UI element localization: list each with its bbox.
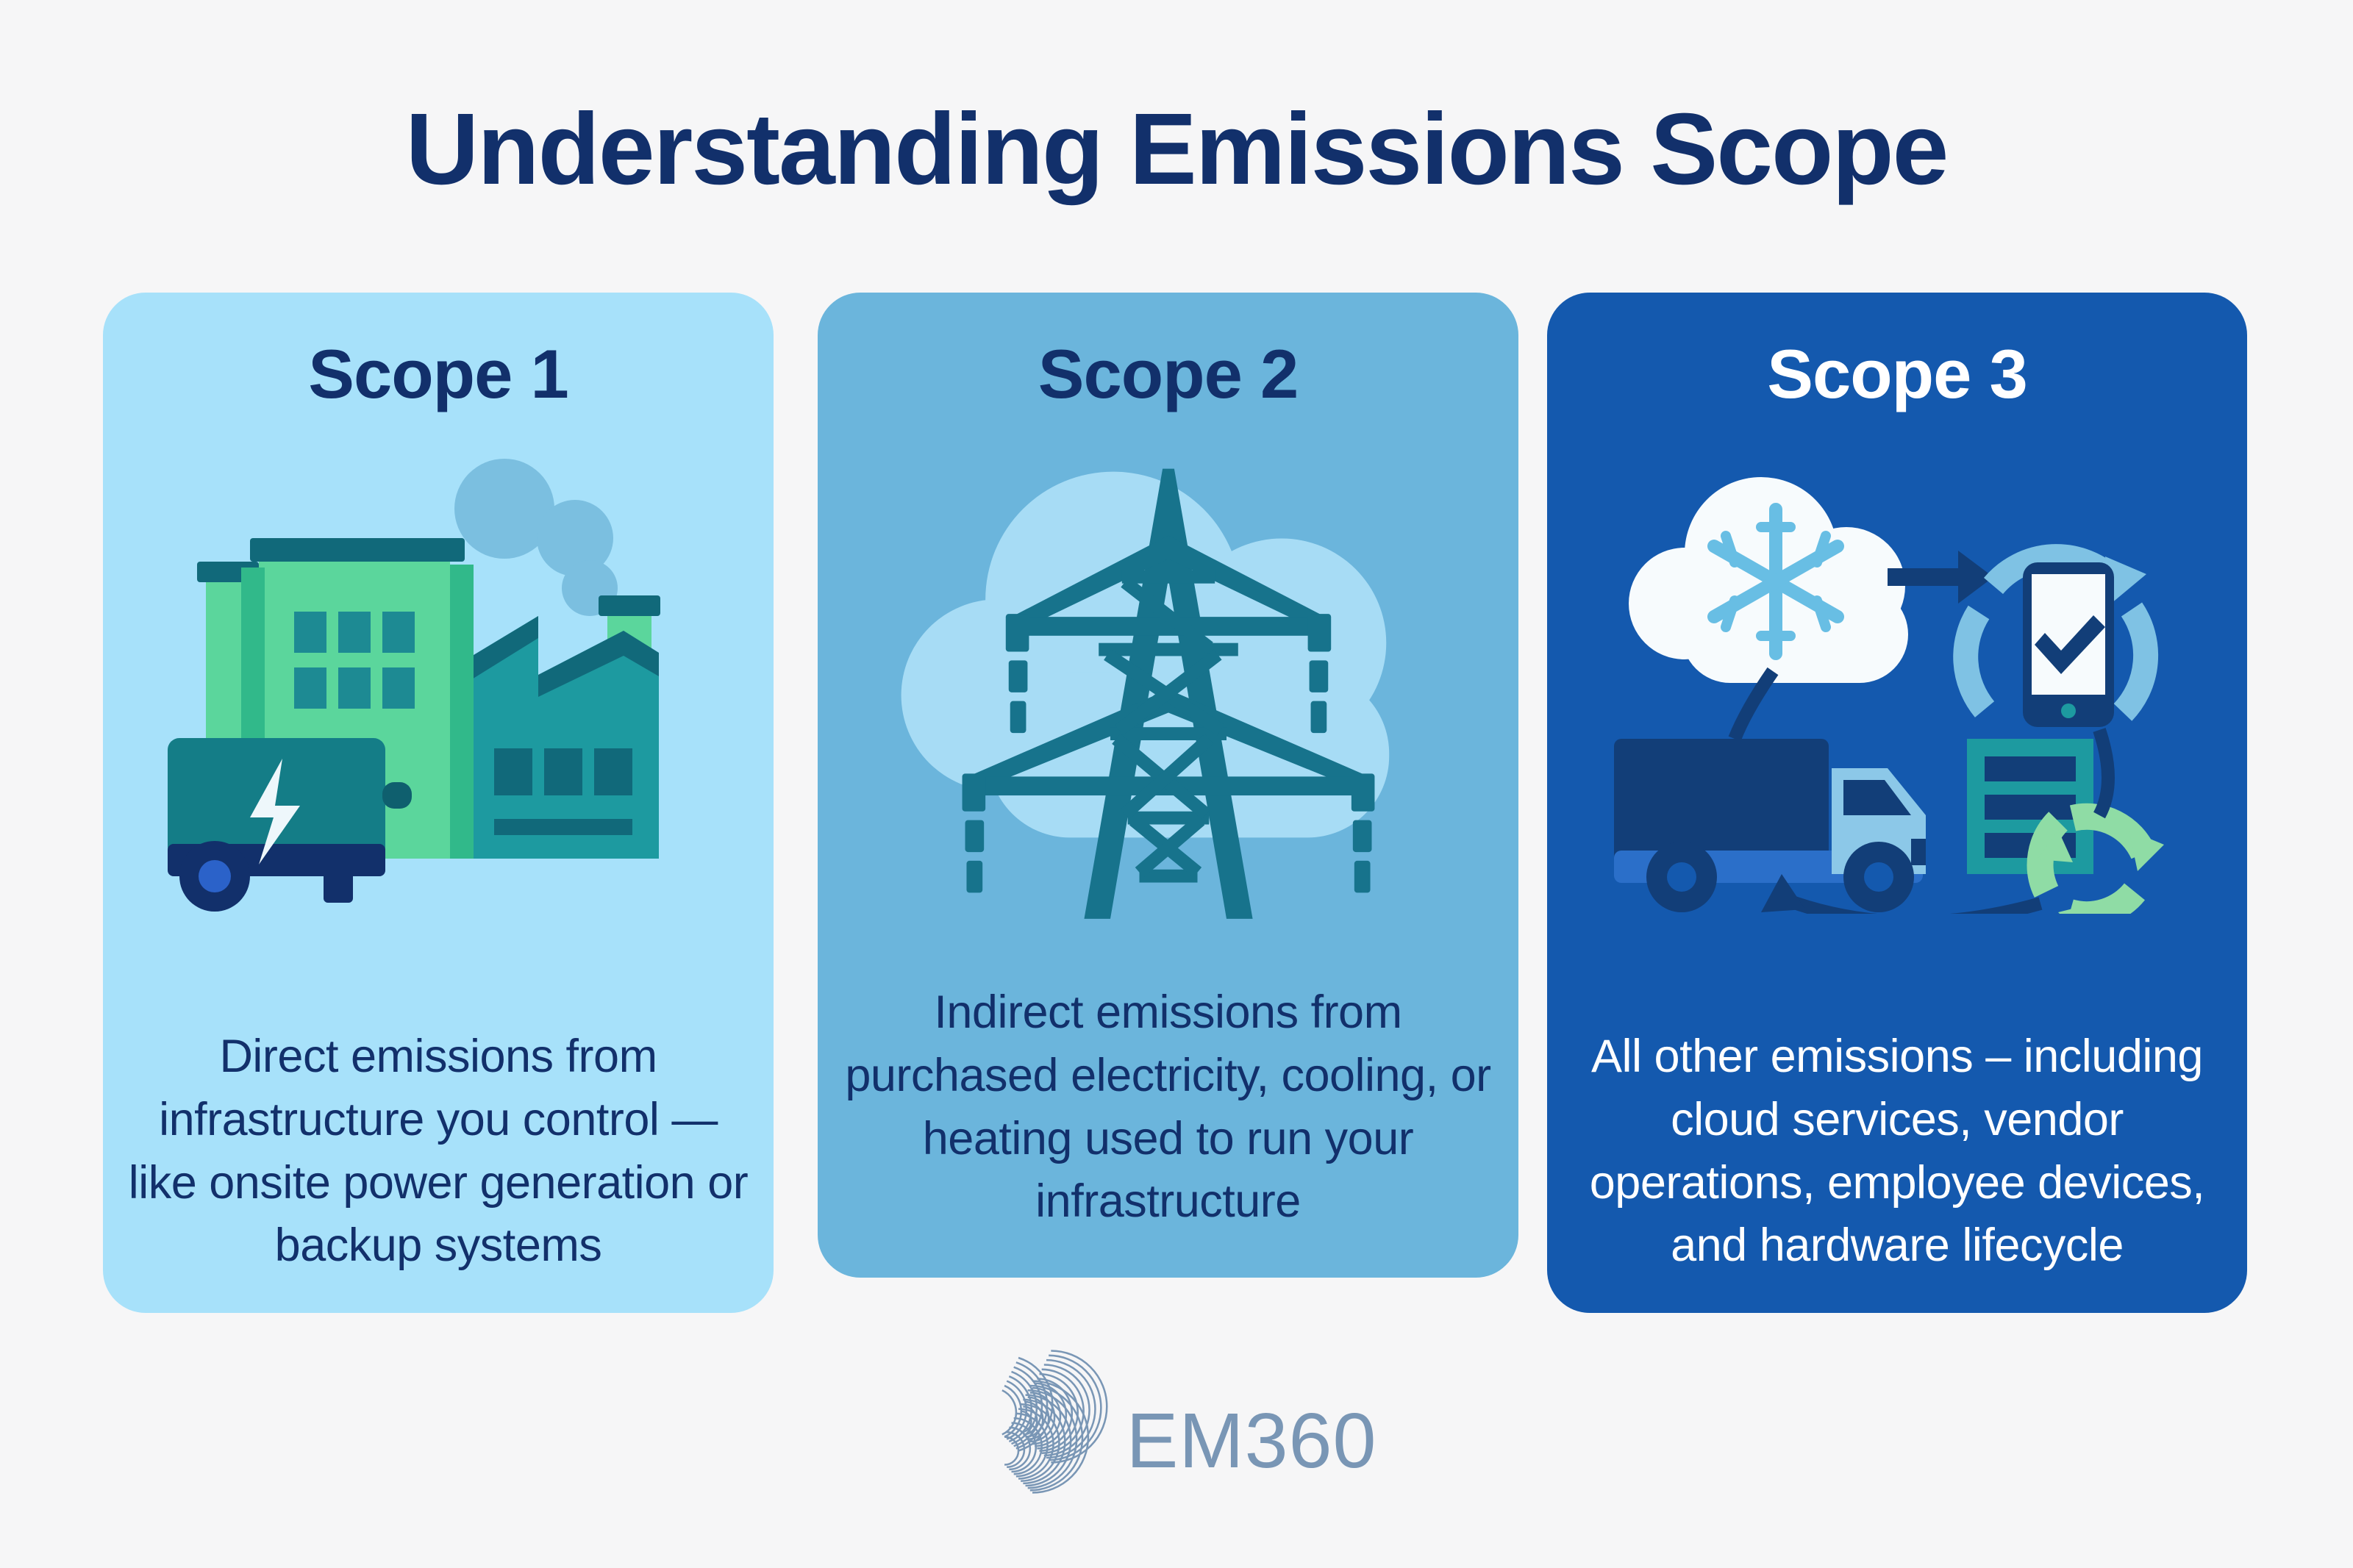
scope-3-card: Scope 3 <box>1547 293 2247 1313</box>
delivery-truck <box>1614 739 1926 912</box>
scope-2-description: Indirect emissions from purchased electr… <box>818 981 1518 1234</box>
spiral-arcs-mark <box>976 1344 1116 1500</box>
scope-3-svg <box>1599 451 2195 914</box>
scope-1-title: Scope 1 <box>103 338 774 411</box>
factory-building <box>453 616 659 859</box>
scope-1-svg <box>159 447 718 917</box>
transmission-tower-cloud-illustration <box>818 425 1518 939</box>
flow-arrow-phone-recycle <box>2099 730 2108 815</box>
logo-wordmark: EM360 <box>1126 1402 1377 1480</box>
scope-2-svg <box>878 440 1459 925</box>
smoke-puffs <box>454 459 618 616</box>
cloud-snowflake <box>1629 477 1908 683</box>
page-title: Understanding Emissions Scope <box>0 94 2353 206</box>
scope-2-card: Scope 2 <box>818 293 1518 1278</box>
infographic-canvas: Understanding Emissions Scope Scope 1 <box>0 0 2353 1568</box>
scope-3-description: All other emissions – including cloud se… <box>1547 1025 2247 1278</box>
scope-1-description: Direct emissions from infrastructure you… <box>103 1025 774 1278</box>
em360-logo: EM360 <box>0 1344 2353 1500</box>
backup-generator <box>168 738 412 912</box>
scope-3-title: Scope 3 <box>1547 338 2247 411</box>
supply-chain-lifecycle-illustration <box>1547 425 2247 939</box>
scope-2-title: Scope 2 <box>818 338 1518 411</box>
factory-generator-illustration <box>103 425 774 939</box>
scope-1-card: Scope 1 <box>103 293 774 1313</box>
smartphone-checkmark <box>2023 562 2114 727</box>
